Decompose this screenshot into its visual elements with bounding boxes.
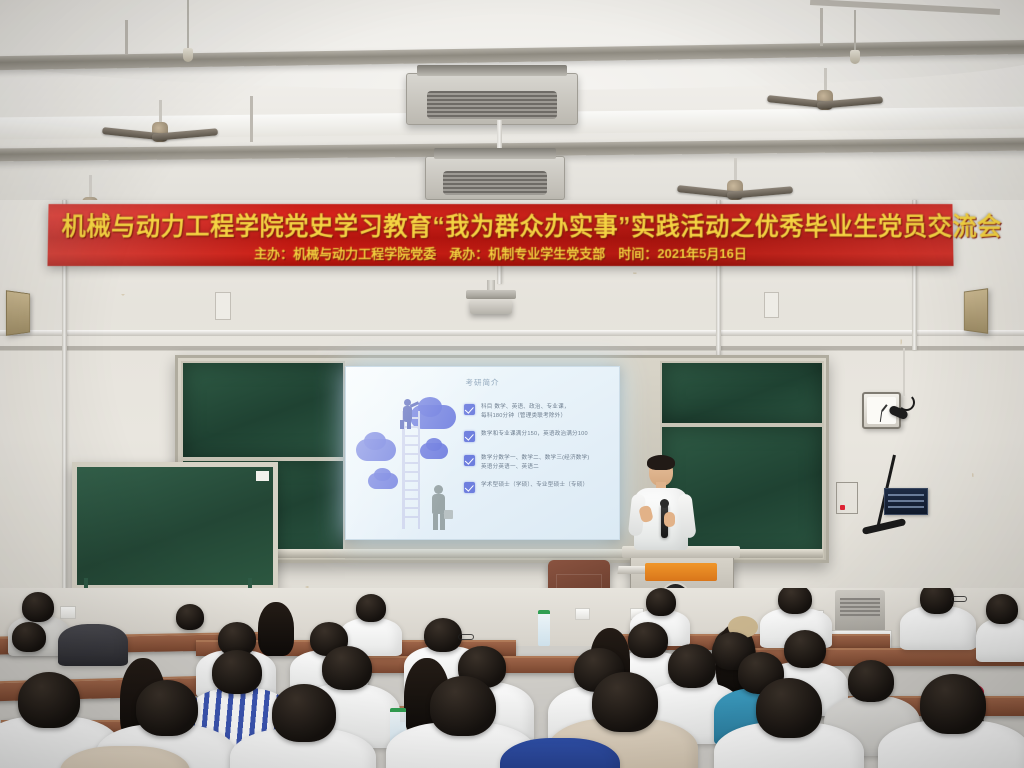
audience-head xyxy=(668,644,716,688)
cloud-icon xyxy=(410,405,456,429)
air-conditioner-unit xyxy=(406,73,578,125)
audience-head xyxy=(430,676,496,736)
audience-head xyxy=(848,660,894,702)
eyeglasses xyxy=(458,634,474,640)
cloud-icon xyxy=(420,443,448,459)
banner-title: 机械与动力工程学院党史学习教育“我为群众办实事”实践活动之优秀毕业生党员交流会 xyxy=(61,207,939,243)
hanging-microphone-wire xyxy=(903,348,905,396)
slide-bullet: 数学和专业课满分150，英语政治满分100 xyxy=(464,430,613,442)
audience-head xyxy=(628,622,668,658)
audience-head xyxy=(176,604,204,630)
electrical-control-box xyxy=(836,482,858,514)
bullet-line: 数学和专业课满分150，英语政治满分100 xyxy=(481,430,588,439)
cloud-icon xyxy=(356,439,396,461)
slide-bullet: 数学分数学一、数学二、数学三(经济数学) 英语分英语一、英语二 xyxy=(464,454,613,471)
lecture-hall-photo: 机械与动力工程学院党史学习教育“我为群众办实事”实践活动之优秀毕业生党员交流会 … xyxy=(0,0,1024,768)
audience-head xyxy=(920,588,954,614)
presenter-hair xyxy=(647,455,675,470)
slide-bullet: 科目 数学、英语、政治、专业课， 每科180分钟（管理类联考除外） xyxy=(464,403,613,420)
checkbox-icon xyxy=(464,404,475,415)
audience-head xyxy=(756,678,822,738)
presenter xyxy=(628,458,694,566)
briefcase-icon xyxy=(444,510,453,519)
wall-plaque xyxy=(884,488,928,515)
ceiling-conduit xyxy=(250,96,253,142)
bullet-line: 数学分数学一、数学二、数学三(经济数学) xyxy=(481,454,589,463)
audience-head xyxy=(322,646,372,690)
projector-mount-bracket xyxy=(466,290,516,299)
wall-junction-box xyxy=(215,292,231,320)
audience-head xyxy=(136,680,198,736)
audience-head xyxy=(212,650,262,694)
bullet-line: 学术型硕士（学硕）、专业型硕士（专硕） xyxy=(481,481,588,490)
slide-bullet: 学术型硕士（学硕）、专业型硕士（专硕） xyxy=(464,481,613,493)
cloud-icon xyxy=(426,438,442,451)
cloud-icon xyxy=(364,432,386,450)
bullet-line: 每科180分钟（管理类联考除外） xyxy=(481,412,570,421)
portable-blackboard xyxy=(72,462,278,590)
audience-area xyxy=(0,588,1024,768)
audience-head xyxy=(356,594,386,622)
water-bottle xyxy=(538,610,550,646)
cloud-icon xyxy=(368,473,398,489)
audience-head xyxy=(12,622,46,652)
checkbox-icon xyxy=(464,482,475,493)
climber-figure-icon xyxy=(398,399,420,429)
blackboard-tag xyxy=(256,471,269,481)
ceiling-projector xyxy=(470,299,512,314)
slide-title: 考研简介 xyxy=(346,377,619,388)
audience-head xyxy=(22,592,54,622)
bullet-line: 科目 数学、英语、政治、专业课， xyxy=(481,403,570,412)
chalkboard-panel-right-upper xyxy=(660,361,824,425)
audience-member xyxy=(58,624,128,666)
projection-screen: 考研简介 xyxy=(345,366,620,540)
checkbox-icon xyxy=(464,455,475,466)
wall-outlet xyxy=(60,606,76,619)
audience-head xyxy=(592,672,658,732)
standing-figure-icon xyxy=(428,485,452,531)
audience-long-hair xyxy=(258,602,294,656)
presenter-hand-right xyxy=(664,512,675,527)
wall-junction-box xyxy=(764,292,779,318)
checkbox-icon xyxy=(464,431,475,442)
audience-head xyxy=(424,618,462,652)
ceiling-conduit xyxy=(125,20,128,54)
audience-head xyxy=(784,630,826,668)
banner-subtitle: 主办：机械与动力工程学院党委 承办：机制专业学生党支部 时间：2021年5月16… xyxy=(48,243,954,262)
air-conditioner-unit xyxy=(425,156,565,200)
wall-ledge xyxy=(0,330,1024,336)
wall-outlet xyxy=(575,608,590,620)
ceiling-conduit xyxy=(820,8,823,46)
wall-speaker-left xyxy=(6,290,30,336)
bullet-line: 英语分英语一、英语二 xyxy=(481,463,589,472)
clock-minute-hand xyxy=(879,410,882,421)
ceiling xyxy=(0,0,1024,205)
floor-air-unit xyxy=(835,590,885,632)
cloud-icon xyxy=(374,468,391,481)
audience-member xyxy=(976,618,1024,662)
audience-head xyxy=(778,588,812,614)
cloud-icon xyxy=(418,397,442,417)
audience-head xyxy=(646,588,676,616)
slide-bullet-list: 科目 数学、英语、政治、专业课， 每科180分钟（管理类联考除外） 数学和专业课… xyxy=(464,403,613,500)
event-banner: 机械与动力工程学院党史学习教育“我为群众办实事”实践活动之优秀毕业生党员交流会 … xyxy=(47,204,953,266)
wall-speaker-right xyxy=(964,288,988,334)
wall-conduit xyxy=(0,346,1024,350)
ladder-icon xyxy=(401,411,421,529)
audience-head xyxy=(272,684,336,742)
slide-illustration xyxy=(354,389,466,531)
audience-head xyxy=(18,672,80,728)
clock-hour-hand xyxy=(881,404,887,411)
audience-head xyxy=(986,594,1018,624)
indicator-led xyxy=(840,505,845,510)
eyeglasses xyxy=(951,596,967,602)
audience-head xyxy=(920,674,986,734)
chalkboard-panel-left-upper xyxy=(181,361,345,459)
